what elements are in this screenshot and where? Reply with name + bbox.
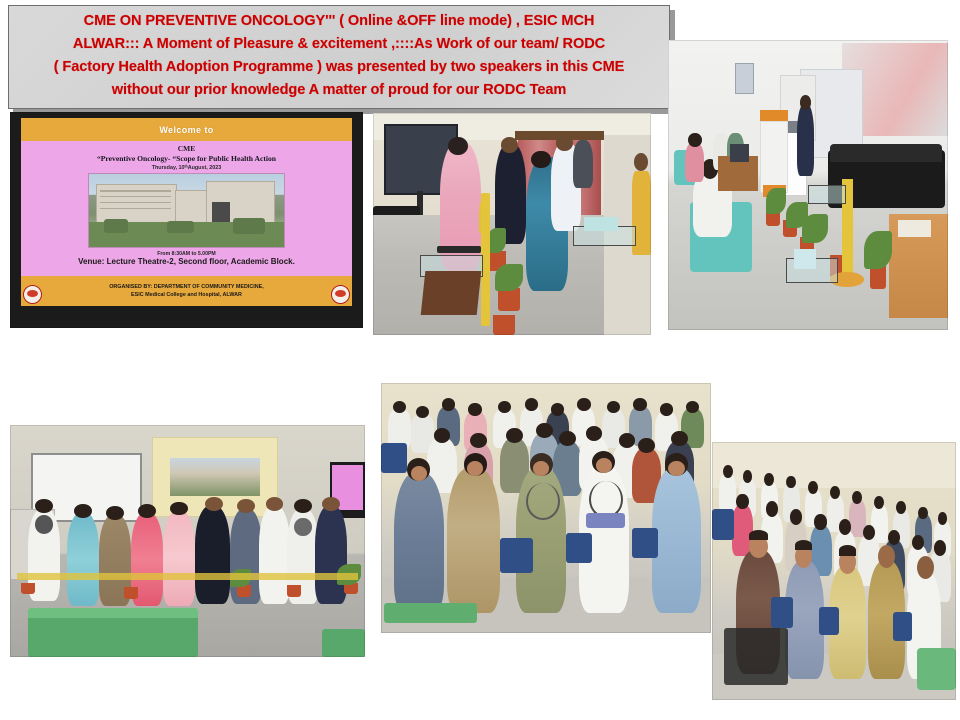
poster-header-band: Welcome to bbox=[21, 118, 353, 141]
poster-date-text: Thursday, 10ᵗʰAugust, 2023 bbox=[152, 165, 222, 171]
photo-speaker-podium bbox=[668, 40, 948, 330]
poster-theme-text: “Preventive Oncology- “Scope for Public … bbox=[97, 154, 276, 163]
tv-screen: Welcome to CME “Preventive Oncology- “Sc… bbox=[21, 118, 353, 306]
poster-footer-band: ORGANISED BY: DEPARTMENT OF COMMUNITY ME… bbox=[21, 276, 353, 306]
poster-building-photo bbox=[88, 173, 286, 248]
poster-event-name: CME bbox=[178, 144, 196, 153]
photo-audience-center bbox=[381, 383, 711, 633]
photo-group-faculty bbox=[10, 425, 365, 657]
title-line-1: CME ON PREVENTIVE ONCOLOGY''' ( Online &… bbox=[84, 10, 595, 33]
poster-venue-text: Venue: Lecture Theatre-2, Second floor, … bbox=[78, 257, 295, 266]
poster-organiser-line-1: ORGANISED BY: DEPARTMENT OF COMMUNITY ME… bbox=[109, 283, 264, 291]
photo-audience-right bbox=[712, 442, 956, 700]
institution-seal-left-icon bbox=[23, 285, 42, 304]
presentation-slide: CME ON PREVENTIVE ONCOLOGY''' ( Online &… bbox=[0, 0, 960, 720]
title-text-box: CME ON PREVENTIVE ONCOLOGY''' ( Online &… bbox=[8, 5, 670, 109]
institution-seal-right-icon bbox=[331, 285, 350, 304]
cme-poster: Welcome to CME “Preventive Oncology- “Sc… bbox=[21, 118, 353, 306]
poster-organiser-line-2: ESIC Medical College and Hospital, ALWAR bbox=[131, 291, 242, 299]
photo-lamp-lighting bbox=[373, 113, 651, 335]
title-line-4: without our prior knowledge A matter of … bbox=[112, 79, 566, 102]
title-line-2: ALWAR::: A Moment of Pleasure & exciteme… bbox=[73, 33, 605, 56]
title-line-3: ( Factory Health Adoption Programme ) wa… bbox=[54, 56, 625, 79]
poster-welcome-text: Welcome to bbox=[159, 125, 213, 135]
photo-cme-poster-slide: Welcome to CME “Preventive Oncology- “Sc… bbox=[10, 112, 363, 328]
